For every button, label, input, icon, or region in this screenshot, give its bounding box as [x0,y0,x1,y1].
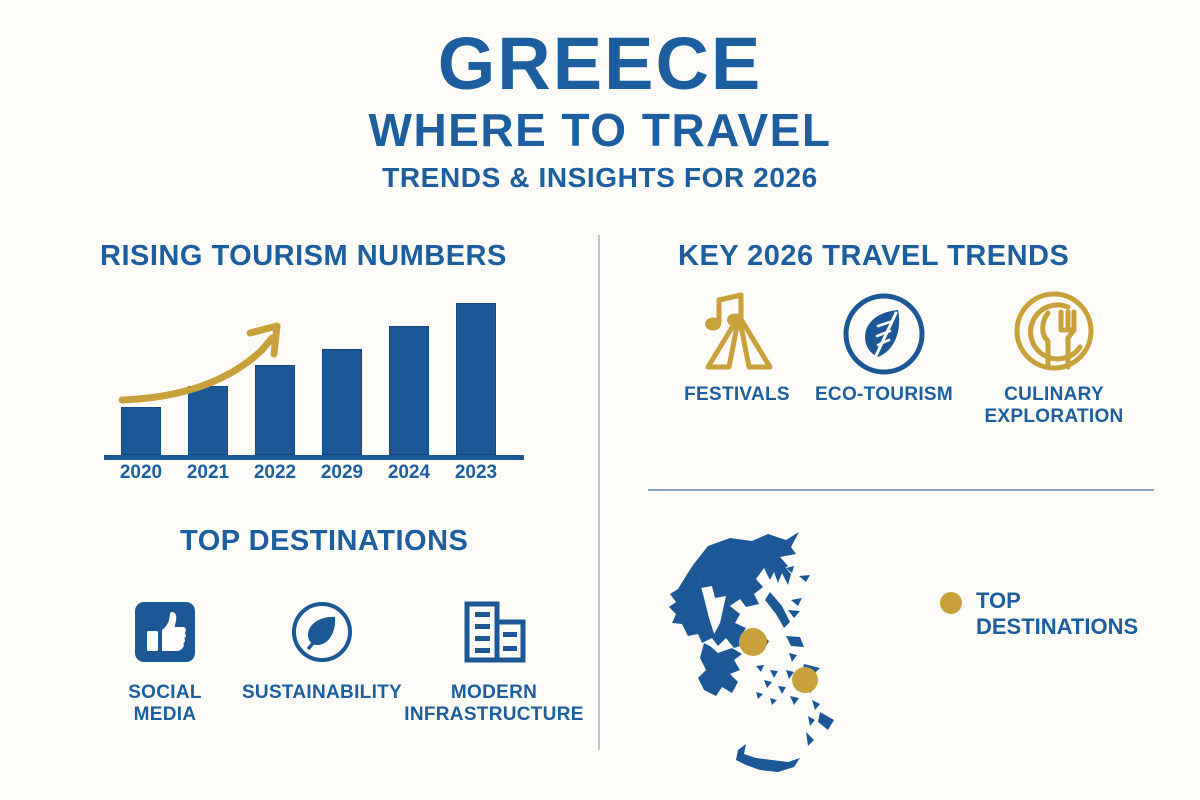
x-label-3: 2029 [312,462,372,484]
trend-label-culinary-exploration: CULINARY EXPLORATION [962,384,1146,428]
destination-label-sustainability: SUSTAINABILITY [232,682,412,704]
eco-leaf-circle-icon [806,292,962,376]
vertical-divider [598,235,600,750]
trend-item-culinary-exploration[interactable]: CULINARY EXPLORATION [962,292,1146,428]
bar-2020 [121,407,161,455]
map-marker-2 [792,667,818,693]
section-heading-key-trends: KEY 2026 TRAVEL TRENDS [678,240,1069,273]
x-label-5: 2023 [446,462,506,484]
bar-2022 [255,365,295,455]
destination-item-social-media[interactable]: SOCIAL MEDIA [106,590,224,726]
thumbs-up-icon [106,590,224,674]
leaf-circle-icon [232,590,412,674]
section-heading-rising-tourism: RISING TOURISM NUMBERS [100,240,507,273]
x-label-2: 2022 [245,462,305,484]
tourism-bar-chart: 2020 2021 2022 2029 2024 2023 [100,290,530,495]
greece-map[interactable] [660,510,960,795]
legend-label: TOP DESTINATIONS [976,588,1138,640]
horizontal-divider [648,489,1154,491]
destination-item-modern-infrastructure[interactable]: MODERN INFRASTRUCTURE [404,590,584,726]
map-legend: TOP DESTINATIONS [940,588,1138,640]
bar-2029 [322,349,362,455]
x-label-4: 2024 [379,462,439,484]
destination-label-modern-infrastructure: MODERN INFRASTRUCTURE [404,682,584,726]
chart-plot-area [100,290,530,460]
trend-item-eco-tourism[interactable]: ECO-TOURISM [806,292,962,406]
bar-2024 [389,326,429,455]
trend-label-eco-tourism: ECO-TOURISM [806,384,962,406]
trend-label-festivals: FESTIVALS [672,384,802,406]
legend-marker-dot [940,592,962,614]
map-marker-1 [739,628,767,656]
section-heading-top-destinations: TOP DESTINATIONS [180,525,468,558]
destination-label-social-media: SOCIAL MEDIA [106,682,224,726]
festival-tent-icon [672,292,802,376]
culinary-plate-icon [962,292,1146,376]
buildings-icon [404,590,584,674]
header: GREECE WHERE TO TRAVEL TRENDS & INSIGHTS… [0,28,1200,194]
chart-axis-line [104,455,524,460]
page-title: GREECE [0,28,1200,101]
chart-x-axis-labels: 2020 2021 2022 2029 2024 2023 [100,462,530,492]
trend-item-festivals[interactable]: FESTIVALS [672,292,802,406]
bar-2021 [188,386,228,455]
x-label-1: 2021 [178,462,238,484]
page-tagline: TRENDS & INSIGHTS FOR 2026 [0,163,1200,194]
destination-item-sustainability[interactable]: SUSTAINABILITY [232,590,412,704]
x-label-0: 2020 [111,462,171,484]
bar-2023 [456,303,496,455]
page-subtitle: WHERE TO TRAVEL [0,105,1200,156]
infographic-canvas: GREECE WHERE TO TRAVEL TRENDS & INSIGHTS… [0,0,1200,800]
